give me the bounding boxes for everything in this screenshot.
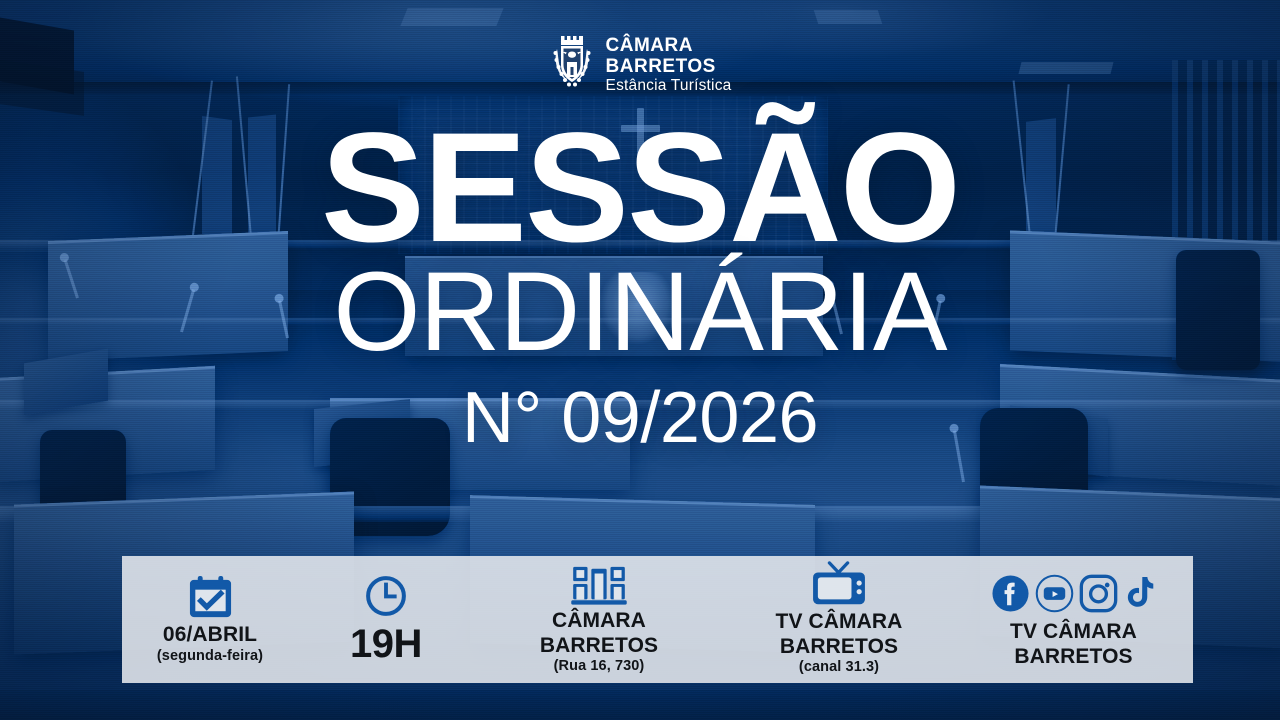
headline-ordinaria: ORDINÁRIA — [0, 255, 1280, 369]
brand-line-camara: CÂMARA — [606, 36, 732, 55]
social-line-2: BARRETOS — [1014, 646, 1132, 669]
info-cell-social-media: TV CÂMARA BARRETOS — [954, 556, 1193, 683]
brand-line-estancia-turistica: Estância Turística — [606, 78, 732, 94]
television-icon — [810, 561, 868, 609]
building-icon — [571, 562, 627, 608]
youtube-icon[interactable] — [1035, 574, 1074, 613]
info-cell-time: 19H — [298, 556, 474, 683]
clock-icon — [364, 571, 408, 621]
camara-barretos-brand-lockup: CÂMARA BARRETOS Estância Turística — [0, 33, 1280, 94]
poster-headline: SESSÃO ORDINÁRIA N° 09/2026 — [0, 116, 1280, 457]
tv-channel-detail: (canal 31.3) — [799, 660, 879, 676]
info-cell-location: CÂMARA BARRETOS (Rua 16, 730) — [474, 556, 724, 683]
instagram-icon[interactable] — [1079, 574, 1118, 613]
location-address: (Rua 16, 730) — [554, 659, 645, 675]
time-value: 19H — [350, 623, 422, 666]
date-value: 06/ABRIL — [163, 624, 257, 647]
location-line-1: CÂMARA — [552, 610, 646, 633]
tv-line-1: TV CÂMARA — [776, 611, 903, 634]
date-weekday: (segunda-feira) — [157, 649, 263, 665]
session-announcement-poster: CÂMARA BARRETOS Estância Turística SESSÃ… — [0, 0, 1280, 720]
location-line-2: BARRETOS — [540, 635, 658, 658]
brand-text-block: CÂMARA BARRETOS Estância Turística — [606, 33, 732, 94]
social-icon-row — [991, 569, 1156, 619]
social-line-1: TV CÂMARA — [1010, 621, 1137, 644]
poster-content: CÂMARA BARRETOS Estância Turística SESSÃ… — [0, 0, 1280, 720]
brand-line-barretos: BARRETOS — [606, 57, 732, 76]
info-cell-date: 06/ABRIL (segunda-feira) — [122, 556, 298, 683]
tiktok-icon[interactable] — [1123, 574, 1156, 613]
info-cell-tv-channel: TV CÂMARA BARRETOS (canal 31.3) — [724, 556, 954, 683]
headline-session-number: N° 09/2026 — [0, 381, 1280, 457]
calendar-check-icon — [187, 572, 234, 622]
facebook-icon[interactable] — [991, 574, 1030, 613]
headline-sessao: SESSÃO — [0, 116, 1280, 261]
barretos-coat-of-arms-crest-icon — [549, 33, 595, 91]
tv-line-2: BARRETOS — [780, 636, 898, 659]
session-details-bar: 06/ABRIL (segunda-feira) 19H — [122, 556, 1193, 683]
